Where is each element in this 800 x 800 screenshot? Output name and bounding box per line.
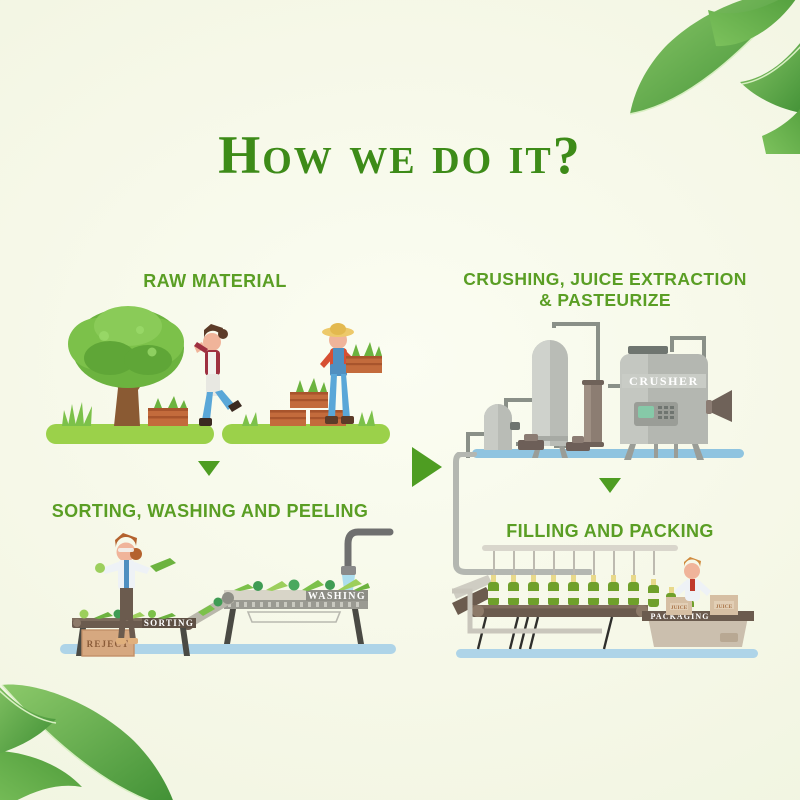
crusher-machine-label: CRUSHER [629,374,699,388]
control-display [638,406,654,418]
overhead-rail [482,545,678,551]
scene-filling-packing: PACKAGING JUICE JUICE [452,545,762,665]
neem-leaves-bottom-left-icon [0,641,216,800]
conveyor-label-sorting: SORTING [144,618,194,628]
step-label-crushing: CRUSHING, JUICE EXTRACTION & PASTEURIZE [440,269,770,312]
crusher-machine: CRUSHER [620,346,708,460]
flow-arrow-down-crushing-to-filling [599,478,621,493]
held-fruit [95,563,105,573]
crate-small [148,396,188,426]
infographic-canvas: How we do it? RAW MATERIAL CRUSHING, JUI… [0,0,800,800]
flow-arrow-right-main [412,447,442,487]
conveyor-label-washing: WASHING [308,591,366,602]
scene-crushing-machinery: CRUSHER [458,318,758,468]
washing-shower-pipe [341,532,390,590]
worker-farmer [320,323,382,424]
juice-box-label-2: JUICE [716,604,733,610]
reject-box: REJECT [82,630,134,656]
grass-tuft [62,402,92,426]
scene-raw-material [42,296,392,451]
worker-harvesting [194,324,242,426]
tank-small [484,404,520,450]
page-title: How we do it? [0,128,800,182]
ground-left [46,424,214,444]
step-label-raw-material: RAW MATERIAL [60,271,370,293]
scene-sorting-washing: WASHING [58,528,398,663]
worker-packing [674,557,711,601]
packaging-table: PACKAGING [642,611,754,647]
step-label-sorting: SORTING, WASHING AND PEELING [20,501,400,523]
extraction-column [582,380,604,447]
floor [456,649,758,658]
step-label-crushing-line2: & PASTEURIZE [440,290,770,311]
flow-arrow-down-raw-to-sorting [198,461,220,476]
juice-box-2: JUICE [710,595,738,615]
filling-nozzles [494,551,654,575]
juice-box-label-1: JUICE [671,605,688,611]
held-leaves [150,558,176,572]
ground-right [222,424,390,444]
step-label-crushing-line1: CRUSHING, JUICE EXTRACTION [440,269,770,290]
carried-crate [346,342,382,373]
output-chute [706,390,732,422]
control-keypad [658,406,674,419]
grass-tuft-right [242,410,375,426]
